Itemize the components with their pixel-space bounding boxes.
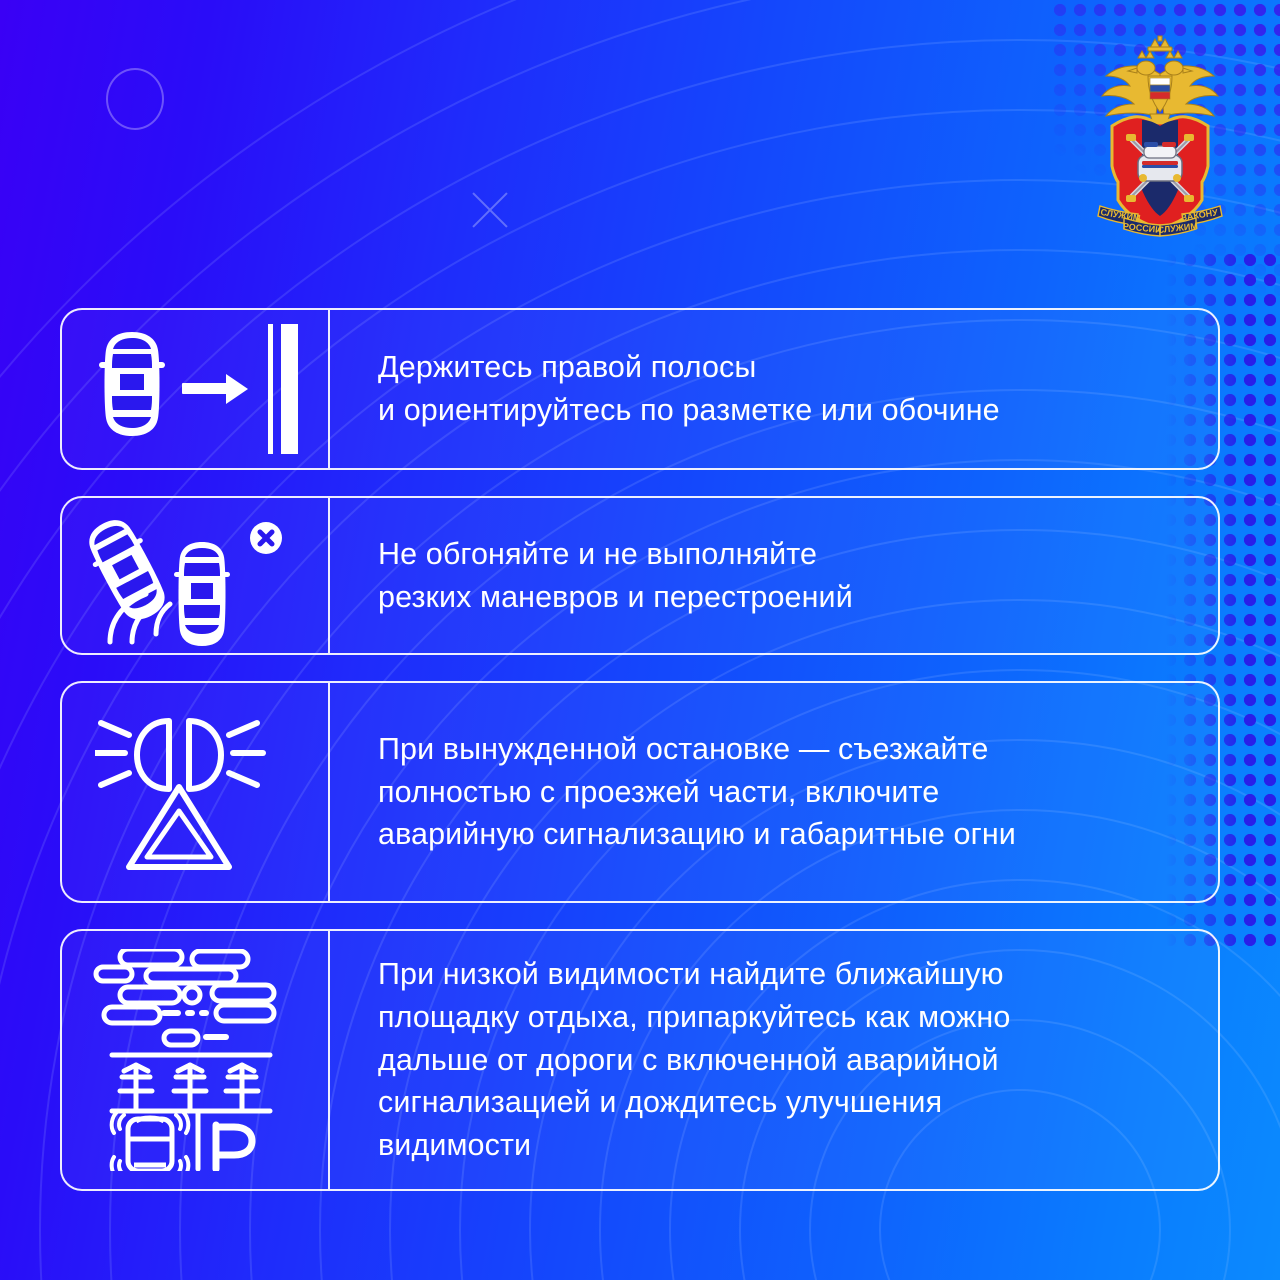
poster-canvas: СЛУЖИМ РОССИИ СЛУЖИМ ЗАКОНУ [0,0,1280,1280]
rule-4-line-4: сигнализацией и дождитесь улучшения [378,1085,942,1119]
rule-1-line-2: и ориентируйтесь по разметке или обочине [378,393,1000,427]
rule-card-3-icon-cell [62,683,330,901]
rule-1-line-1: Держитесь правой полосы [378,350,756,384]
no-overtaking-icon [80,506,310,646]
car-keep-right-lane-icon [72,324,318,454]
fog-rest-area-parking-icon [86,949,304,1171]
rule-card-4-icon-cell [62,931,330,1189]
rule-card-4-text: При низкой видимости найдите ближайшую п… [330,931,1218,1189]
rule-4-line-2: площадку отдыха, припаркуйтесь как можно [378,1000,1010,1034]
rule-4-line-5: видимости [378,1128,531,1162]
rule-card-2-text: Не обгоняйте и не выполняйте резких мане… [330,498,1218,653]
rule-card-2[interactable]: Не обгоняйте и не выполняйте резких мане… [60,496,1220,655]
rules-list: Держитесь правой полосы и ориентируйтесь… [60,308,1220,1191]
rule-card-3[interactable]: При вынужденной остановке — съезжайте по… [60,681,1220,903]
rule-card-3-text: При вынужденной остановке — съезжайте по… [330,683,1218,901]
rule-2-line-2: резких маневров и перестроений [378,580,853,614]
rule-card-4[interactable]: При низкой видимости найдите ближайшую п… [60,929,1220,1191]
rule-3-line-1: При вынужденной остановке — съезжайте [378,732,988,766]
rule-3-line-2: полностью с проезжей части, включите [378,775,939,809]
rule-3-line-3: аварийную сигнализацию и габаритные огни [378,817,1016,851]
rule-card-1-text: Держитесь правой полосы и ориентируйтесь… [330,310,1218,468]
rule-card-1[interactable]: Держитесь правой полосы и ориентируйтесь… [60,308,1220,470]
rule-2-line-1: Не обгоняйте и не выполняйте [378,537,817,571]
circle-outline-icon [106,68,164,130]
mvd-emblem: СЛУЖИМ РОССИИ СЛУЖИМ ЗАКОНУ [1080,28,1240,238]
rule-card-2-icon-cell [62,498,330,653]
rule-4-line-1: При низкой видимости найдите ближайшую [378,957,1004,991]
rule-4-line-3: дальше от дороги с включенной аварийной [378,1043,999,1077]
rule-card-1-icon-cell [62,310,330,468]
hazard-lights-warning-triangle-icon [95,707,295,877]
x-mark-icon [466,186,514,234]
